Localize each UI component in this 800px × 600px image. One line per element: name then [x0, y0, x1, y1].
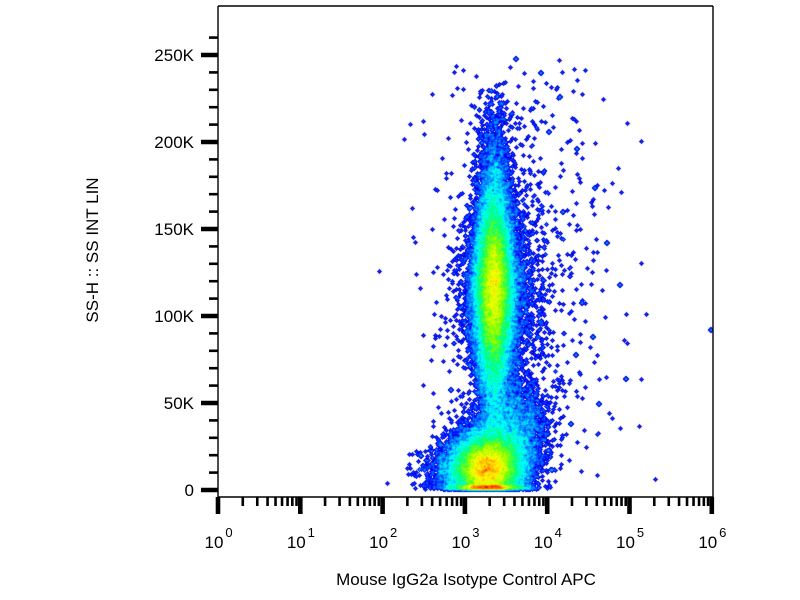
flow-cytometry-figure: 250K200K150K100K50K0 1001011021031041051… — [0, 0, 800, 600]
scatter-plot-canvas — [0, 0, 800, 600]
